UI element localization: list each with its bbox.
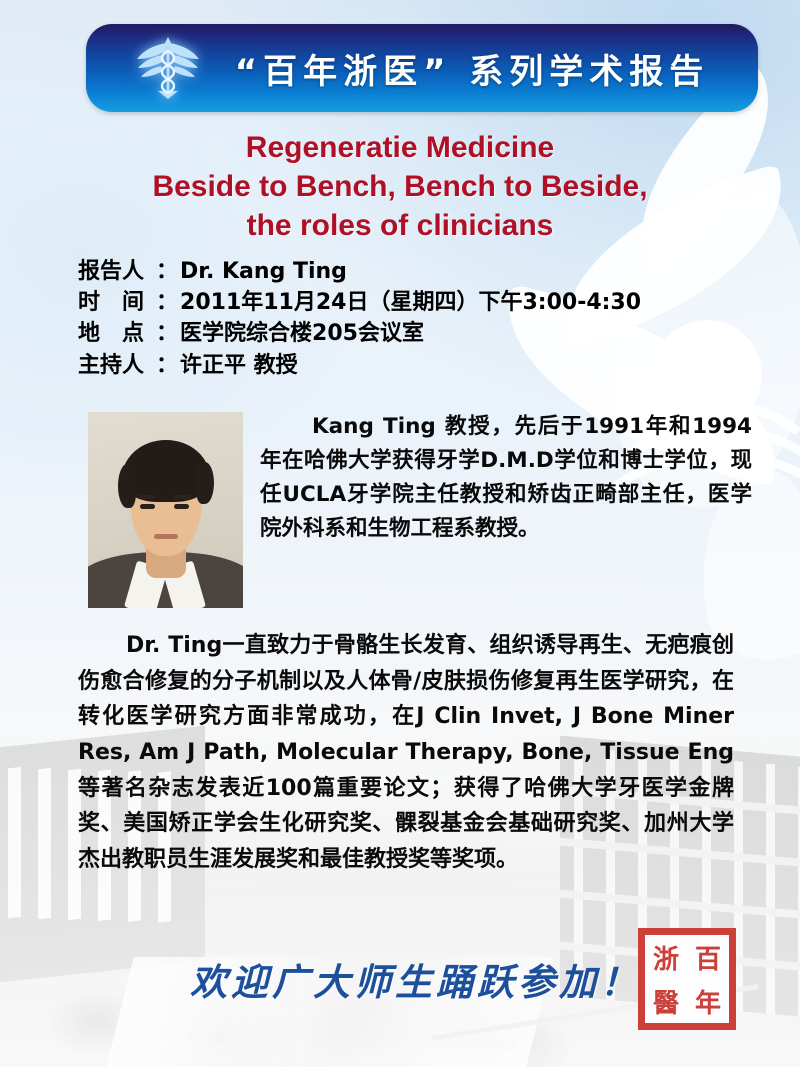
info-row-time: 时 间 ： 2011年11月24日（星期四）下午3:00-4:30 <box>78 287 641 318</box>
info-sep-time: ： <box>156 287 178 318</box>
title-line-1: Regeneratie Medicine <box>60 128 740 167</box>
page-title: Regeneratie Medicine Beside to Bench, Be… <box>60 128 740 245</box>
seal-char-1: 浙 <box>645 935 687 979</box>
title-line-3: the roles of clinicians <box>60 206 740 245</box>
info-value-speaker: Dr. Kang Ting <box>180 256 347 287</box>
biography-paragraph: Kang Ting 教授，先后于1991年和1994年在哈佛大学获得牙学D.M.… <box>260 410 752 546</box>
info-label-host: 主持人 <box>78 350 156 381</box>
event-info: 报告人 ： Dr. Kang Ting 时 间 ： 2011年11月24日（星期… <box>78 256 641 381</box>
info-value-location: 医学院综合楼205会议室 <box>180 318 424 349</box>
info-sep-speaker: ： <box>156 256 178 287</box>
info-label-time: 时 间 <box>78 287 156 318</box>
photo-hair-left <box>118 464 136 508</box>
welcome-line: 欢迎广大师生踊跃参加！ <box>190 952 641 1006</box>
poster: “百年浙医” 系列学术报告 Regeneratie Medicine Besid… <box>0 0 800 1067</box>
photo-hair-right <box>196 462 214 504</box>
info-label-speaker: 报告人 <box>78 256 156 287</box>
photo-mouth <box>154 534 178 539</box>
info-row-location: 地 点 ： 医学院综合楼205会议室 <box>78 318 641 349</box>
banner-title: “百年浙医” 系列学术报告 <box>216 44 758 93</box>
photo-brow-right <box>173 495 191 499</box>
info-sep-location: ： <box>156 318 178 349</box>
header-banner: “百年浙医” 系列学术报告 <box>86 24 758 112</box>
body-paragraph: Dr. Ting一直致力于骨骼生长发育、组织诱导再生、无疤痕创伤愈合修复的分子机… <box>78 628 734 877</box>
photo-eye-right <box>174 504 189 509</box>
seal-char-4: 年 <box>687 979 729 1023</box>
seal-char-3: 醫 <box>645 979 687 1023</box>
body-text: Dr. Ting一直致力于骨骼生长发育、组织诱导再生、无疤痕创伤愈合修复的分子机… <box>78 633 734 872</box>
photo-brow-left <box>138 495 156 499</box>
seal-char-2: 百 <box>687 935 729 979</box>
info-value-time: 2011年11月24日（星期四）下午3:00-4:30 <box>180 287 641 318</box>
info-value-host: 许正平 教授 <box>180 350 298 381</box>
info-sep-host: ： <box>156 350 178 381</box>
photo-eye-left <box>140 504 155 509</box>
red-seal-stamp: 浙 百 醫 年 <box>638 928 736 1030</box>
caduceus-icon <box>120 24 216 112</box>
info-row-speaker: 报告人 ： Dr. Kang Ting <box>78 256 641 287</box>
biography-text: Kang Ting 教授，先后于1991年和1994年在哈佛大学获得牙学D.M.… <box>260 414 752 541</box>
speaker-photo <box>88 412 243 608</box>
info-label-location: 地 点 <box>78 318 156 349</box>
title-line-2: Beside to Bench, Bench to Beside, <box>60 167 740 206</box>
info-row-host: 主持人 ： 许正平 教授 <box>78 350 641 381</box>
